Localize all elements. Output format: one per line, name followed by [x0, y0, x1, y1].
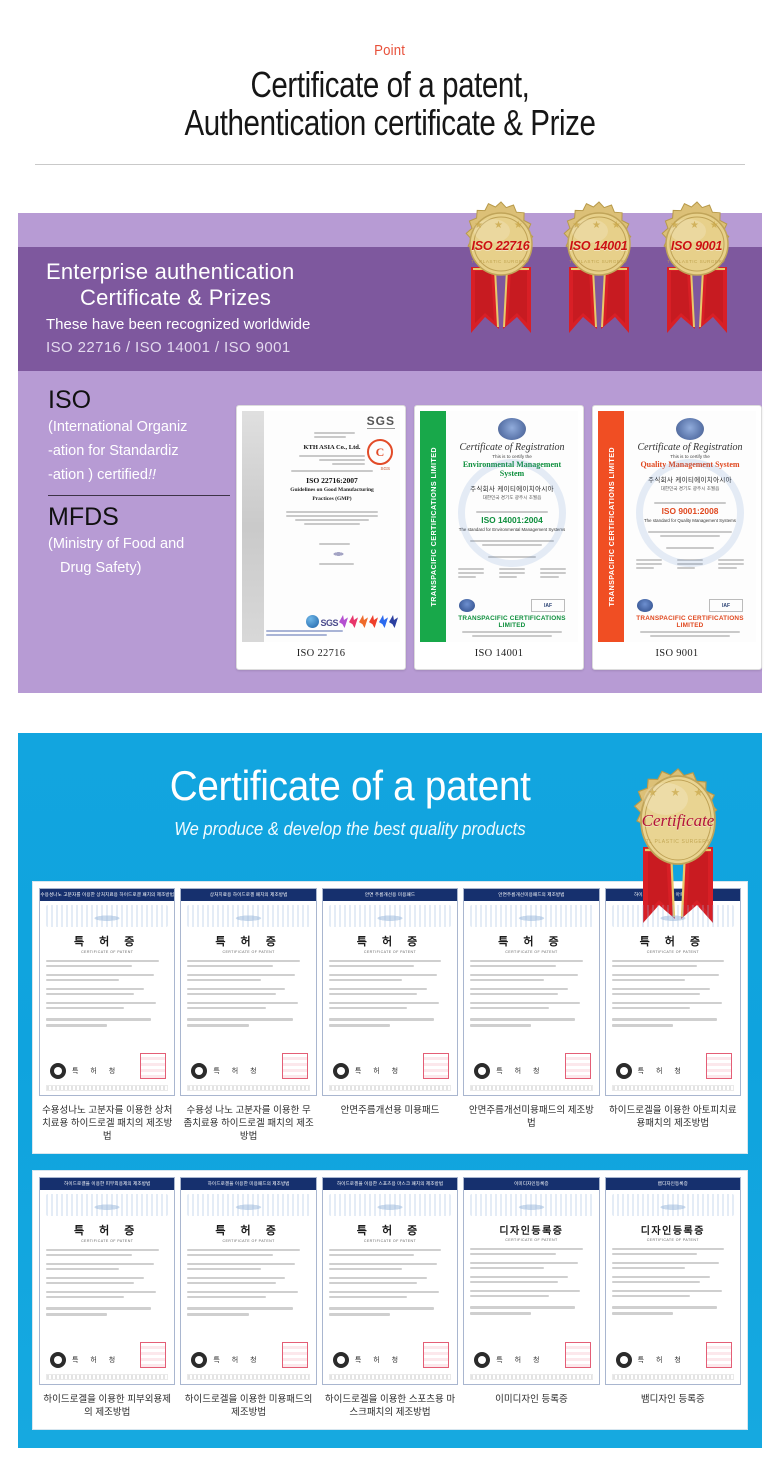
patent-footnote: [470, 1085, 592, 1091]
patent-document-body: 디자인등록증 CERTIFICATE OF PATENT 특 허 청: [606, 1190, 740, 1384]
patent-footnote: [187, 1085, 309, 1091]
patent-footnote: [329, 1374, 451, 1380]
medal-stars: ★ ★ ★: [653, 220, 740, 231]
patent-item[interactable]: 하이드로겔을 이용한 스포츠용 마스크 패치의 제조방법 특 허 증 CERTI…: [322, 1177, 458, 1423]
patent-office-name: 특 허 청: [72, 1066, 120, 1076]
certifier-sidebar: TRANSPACIFIC CERTIFICATIONS LIMITED: [420, 411, 446, 642]
header-divider: [35, 164, 745, 165]
certificate-caption: ISO 14001: [420, 642, 578, 664]
ornament-band: [187, 1194, 309, 1216]
crest-icon: [498, 418, 526, 440]
mfds-line-2: Drug Safety): [48, 556, 244, 580]
iso-mfds-info: ISO (International Organiz -ation for St…: [48, 385, 244, 580]
ornament-band: [329, 905, 451, 927]
enterprise-authentication-section: Enterprise authentication Certificate & …: [18, 213, 762, 693]
patent-document: 하이드로겔을 이용한 스포츠용 마스크 패치의 제조방법 특 허 증 CERTI…: [322, 1177, 458, 1385]
patent-document: 상처치료용 하이드로겔 패치의 제조방법 특 허 증 CERTIFICATE O…: [180, 888, 316, 1096]
iso-medal-14001: ★ ★ ★ ISO 14001 TL PLASTIC SURGERY: [555, 201, 642, 341]
patent-office-name: 특 허 청: [496, 1066, 544, 1076]
iso-line-3-emphasis: !!: [148, 467, 156, 483]
page-title-line1: Certificate of a patent,: [70, 66, 710, 104]
medal-stars: ★ ★ ★: [622, 786, 734, 799]
patent-document-body: 특 허 증 CERTIFICATE OF PATENT 특 허 청: [181, 1190, 315, 1384]
ornament-band: [612, 905, 734, 927]
patent-doc-lines: [612, 1248, 734, 1315]
sgs-footer-lines: [266, 630, 343, 636]
patent-document-header: 하이드로겔을 이용한 피부외용제의 제조방법: [40, 1178, 174, 1190]
patent-footnote: [187, 1374, 309, 1380]
certificate-content: Certificate of Registration This is to c…: [624, 411, 756, 642]
medal-subtext: TL PLASTIC SURGERY: [555, 259, 642, 264]
patent-item[interactable]: 상처치료용 하이드로겔 패치의 제조방법 특 허 증 CERTIFICATE O…: [180, 888, 316, 1147]
patent-document-body: 특 허 증 CERTIFICATE OF PATENT 특 허 청: [40, 1190, 174, 1384]
patent-doc-lines: [46, 1249, 168, 1316]
patent-caption: 이미디자인 등록증: [463, 1385, 599, 1419]
patent-doc-lines: [612, 960, 734, 1027]
patent-seal-icon: [706, 1053, 732, 1079]
crest-icon: [676, 418, 704, 440]
patent-caption: 하이드로겔을 이용한 피부외용제의 제조방법: [39, 1385, 175, 1423]
mfds-heading: MFDS: [48, 502, 244, 532]
patent-document-header: 하이드로겔을 이용한 미용패드의 제조방법: [181, 1178, 315, 1190]
gold-medal-icon: [458, 201, 544, 287]
patent-document-header: 이미디자인등록증: [464, 1178, 598, 1190]
patent-doc-title: 특 허 증: [46, 1222, 168, 1238]
bird-icon: [389, 615, 398, 628]
signature-block: [540, 566, 566, 580]
iso-medal-group: ★ ★ ★ ISO 22716 TL PLASTIC SURGERY ★ ★ ★…: [457, 201, 740, 341]
patent-document-body: 특 허 증 CERTIFICATE OF PATENT 특 허 청: [323, 901, 457, 1095]
patent-doc-lines: [470, 1248, 592, 1315]
patent-seal-icon: [423, 1342, 449, 1368]
ornament-band: [612, 1194, 734, 1216]
signature-block: [718, 557, 744, 571]
patent-grid: 수용성나노 고분자를 이용한 상처치료용 하이드로겔 패치의 제조방법 특 허 …: [39, 888, 741, 1147]
iaf-accreditation-icon: IAF: [709, 599, 743, 612]
patent-caption: 안면주름개선미용패드의 제조방법: [463, 1096, 599, 1134]
cert-body-lines: [286, 511, 378, 525]
patent-doc-title: 특 허 증: [187, 933, 309, 949]
ornament-band: [470, 1194, 592, 1216]
patent-row-1: 수용성나노 고분자를 이용한 상처치료용 하이드로겔 패치의 제조방법 특 허 …: [32, 881, 748, 1154]
patent-doc-title: 특 허 증: [470, 933, 592, 949]
certifier-crest-icon: [459, 599, 475, 612]
certifier-sidebar: TRANSPACIFIC CERTIFICATIONS LIMITED: [598, 411, 624, 642]
patent-seal-icon: [282, 1342, 308, 1368]
bird-icon: [349, 615, 358, 628]
ornament-band: [46, 1194, 168, 1216]
certifier-sidebar-text: TRANSPACIFIC CERTIFICATIONS LIMITED: [607, 447, 616, 606]
certificate-caption: ISO 22716: [242, 642, 400, 664]
certificate-card-iso-22716[interactable]: SGS C SGS KTH ASIA Co., Ltd. ISO 22716:2…: [236, 405, 406, 670]
patent-doc-title: 특 허 증: [329, 933, 451, 949]
patent-office-emblem-icon: [616, 1063, 632, 1079]
design-doc-title: 디자인등록증: [612, 1222, 734, 1237]
patent-item[interactable]: 하이드로겔을 이용한 아토피치료용 패치 특 허 증 CERTIFICATE O…: [605, 888, 741, 1147]
patent-doc-lines: [329, 960, 451, 1027]
cert-addr-lines: [299, 455, 366, 465]
patent-doc-title-en: CERTIFICATE OF PATENT: [46, 950, 168, 954]
medal-stars: ★ ★ ★: [555, 220, 642, 231]
patent-row-2: 하이드로겔을 이용한 피부외용제의 제조방법 특 허 증 CERTIFICATE…: [32, 1170, 748, 1430]
patent-office-emblem-icon: [50, 1352, 66, 1368]
patent-office-emblem-icon: [191, 1063, 207, 1079]
iso-line-3-text: -ation ) certified: [48, 467, 148, 483]
iso-line-3: -ation ) certified!!: [48, 463, 244, 487]
patent-doc-title-en: CERTIFICATE OF PATENT: [187, 950, 309, 954]
patent-section-title-text: Certificate of a patent: [170, 763, 531, 809]
certificate-image-iso-14001: TRANSPACIFIC CERTIFICATIONS LIMITED Cert…: [420, 411, 578, 642]
patent-doc-title: 특 허 증: [46, 933, 168, 949]
patent-seal-icon: [423, 1053, 449, 1079]
certificate-script-title: Certificate of Registration: [628, 442, 752, 453]
patent-doc-lines: [329, 1249, 451, 1316]
patent-document-body: 특 허 증 CERTIFICATE OF PATENT 특 허 청: [323, 1190, 457, 1384]
patent-office-name: 특 허 청: [496, 1355, 544, 1365]
certificate-image-iso-9001: TRANSPACIFIC CERTIFICATIONS LIMITED Cert…: [598, 411, 756, 642]
patent-office-emblem-icon: [191, 1352, 207, 1368]
patent-doc-title-en: CERTIFICATE OF PATENT: [46, 1239, 168, 1243]
sgs-standard: ISO 22716:2007: [268, 476, 396, 485]
patent-doc-title-en: CERTIFICATE OF PATENT: [329, 1239, 451, 1243]
mfds-line-1: (Ministry of Food and: [48, 532, 244, 556]
patent-office-emblem-icon: [333, 1063, 349, 1079]
certificate-watermark: [636, 459, 744, 567]
signature-block: [499, 566, 525, 580]
patent-seal-icon: [140, 1342, 166, 1368]
iso-heading: ISO: [48, 385, 244, 415]
patent-doc-title-en: CERTIFICATE OF PATENT: [329, 950, 451, 954]
patent-item[interactable]: 이미디자인등록증 디자인등록증 CERTIFICATE OF PATENT: [463, 1177, 599, 1423]
patent-document-header: 하이드로겔을 이용한 스포츠용 마스크 패치의 제조방법: [323, 1178, 457, 1190]
patent-caption: 하이드로겔을 이용한 아토피치료용패치의 제조방법: [605, 1096, 741, 1134]
patent-office-name: 특 허 청: [213, 1355, 261, 1365]
certificate-signature-row: [450, 566, 574, 580]
patent-doc-title: 특 허 증: [187, 1222, 309, 1238]
sgs-scope-line-2: Practices (GMP): [268, 496, 396, 503]
bird-logos: SGS: [266, 610, 398, 628]
patent-caption: 수용성 나노 고분자를 이용한 무좀치료용 하이드로겔 패치의 제조방법: [180, 1096, 316, 1147]
design-doc-title-en: CERTIFICATE OF PATENT: [470, 1238, 592, 1242]
patent-item[interactable]: 하이드로겔을 이용한 피부외용제의 제조방법 특 허 증 CERTIFICATE…: [39, 1177, 175, 1423]
footer-lines: [640, 631, 741, 637]
certifier-name: TRANSPACIFIC CERTIFICATIONS LIMITED: [627, 615, 753, 629]
sgs-scope-line-1: Guidelines on Good Manufacturing: [268, 487, 396, 494]
patent-seal-icon: [565, 1342, 591, 1368]
info-divider: [48, 495, 230, 496]
patent-item[interactable]: 하이드로겔을 이용한 미용패드의 제조방법 특 허 증 CERTIFICATE …: [180, 1177, 316, 1423]
patent-doc-lines: [46, 960, 168, 1027]
patent-footnote: [612, 1374, 734, 1380]
medal-stars: ★ ★ ★: [457, 220, 544, 231]
ornament-band: [329, 1194, 451, 1216]
patent-document-header: 뱀디자인등록증: [606, 1178, 740, 1190]
sgs-footer: SGS: [266, 610, 398, 638]
cert-signature-lines: [319, 543, 357, 565]
certificate-watermark: [458, 459, 566, 567]
patent-document-body: 특 허 증 CERTIFICATE OF PATENT 특 허 청: [40, 901, 174, 1095]
patent-caption: 수용성나노 고분자를 이용한 상처치료용 하이드로겔 패치의 제조방법: [39, 1096, 175, 1147]
patent-office-emblem-icon: [474, 1352, 490, 1368]
certificate-script-title: Certificate of Registration: [450, 442, 574, 453]
certifier-crest-icon: [637, 599, 653, 612]
patent-doc-lines: [187, 960, 309, 1027]
patent-office-name: 특 허 청: [72, 1355, 120, 1365]
patent-office-name: 특 허 청: [638, 1066, 686, 1076]
footer-lines: [462, 631, 563, 637]
bird-icon: [359, 615, 368, 628]
gold-medal-icon: [556, 201, 642, 287]
patent-grid: 하이드로겔을 이용한 피부외용제의 제조방법 특 허 증 CERTIFICATE…: [39, 1177, 741, 1423]
patent-doc-title-en: CERTIFICATE OF PATENT: [612, 950, 734, 954]
patent-item[interactable]: 뱀디자인등록증 디자인등록증 CERTIFICATE OF PATENT: [605, 1177, 741, 1423]
patent-doc-lines: [470, 960, 592, 1027]
medal-label: Certificate: [622, 811, 734, 831]
page-title: Certificate of a patent, Authentication …: [0, 66, 780, 142]
certificate-card-iso-9001[interactable]: TRANSPACIFIC CERTIFICATIONS LIMITED Cert…: [592, 405, 762, 670]
design-doc-title: 디자인등록증: [470, 1222, 592, 1237]
patent-footnote: [329, 1085, 451, 1091]
sgs-footer-wordmark: SGS: [320, 618, 338, 628]
certificate-content: SGS C SGS KTH ASIA Co., Ltd. ISO 22716:2…: [264, 411, 400, 642]
sgs-seal-icon: C: [367, 439, 393, 465]
patent-footnote: [46, 1374, 168, 1380]
patent-document-header: 안면 주름개선용 미용패드: [323, 889, 457, 901]
patent-doc-title: 특 허 증: [329, 1222, 451, 1238]
patent-document-body: 특 허 증 CERTIFICATE OF PATENT 특 허 청: [181, 901, 315, 1095]
medal-subtext: TL PLASTIC SURGERY: [457, 259, 544, 264]
iaf-accreditation-icon: IAF: [531, 599, 565, 612]
patent-section-header: Certificate of a patent We produce & dev…: [18, 733, 762, 881]
patent-section-subtitle-text: We produce & develop the best quality pr…: [174, 819, 525, 840]
certificate-content: Certificate of Registration This is to c…: [446, 411, 578, 642]
patent-doc-title-en: CERTIFICATE OF PATENT: [187, 1239, 309, 1243]
patent-caption: 하이드로겔을 이용한 미용패드의 제조방법: [180, 1385, 316, 1423]
gold-medal-icon: [654, 201, 740, 287]
patent-seal-icon: [565, 1053, 591, 1079]
patent-document-header: 수용성나노 고분자를 이용한 상처치료용 하이드로겔 패치의 제조방법: [40, 889, 174, 901]
iso-line-2: -ation for Standardiz: [48, 439, 244, 463]
ornament-band: [470, 905, 592, 927]
cert-lead-lines: [291, 470, 373, 472]
certificate-medal: ★ ★ ★ Certificate TL PLASTIC SURGERY: [622, 761, 734, 911]
patent-document-body: 특 허 증 CERTIFICATE OF PATENT 특 허 청: [606, 901, 740, 1095]
patent-office-emblem-icon: [333, 1352, 349, 1368]
patent-footnote: [46, 1085, 168, 1091]
ornament-band: [46, 905, 168, 927]
patent-document: 뱀디자인등록증 디자인등록증 CERTIFICATE OF PATENT: [605, 1177, 741, 1385]
patent-document: 하이드로겔을 이용한 아토피치료용 패치 특 허 증 CERTIFICATE O…: [605, 888, 741, 1096]
design-doc-title-en: CERTIFICATE OF PATENT: [612, 1238, 734, 1242]
patent-document-body: 디자인등록증 CERTIFICATE OF PATENT 특 허 청: [464, 1190, 598, 1384]
patent-office-emblem-icon: [616, 1352, 632, 1368]
accreditation-logos: IAF: [449, 599, 575, 612]
ornament-band: [187, 905, 309, 927]
iso-medal-9001: ★ ★ ★ ISO 9001 TL PLASTIC SURGERY: [653, 201, 740, 341]
sgs-seal-caption: SGS: [380, 466, 390, 471]
certificate-image-iso-22716: SGS C SGS KTH ASIA Co., Ltd. ISO 22716:2…: [242, 411, 400, 642]
patent-document-body: 특 허 증 CERTIFICATE OF PATENT 특 허 청: [464, 901, 598, 1095]
patent-document: 안면 주름개선용 미용패드 특 허 증 CERTIFICATE OF PATEN…: [322, 888, 458, 1096]
page-title-line2: Authentication certificate & Prize: [70, 104, 710, 142]
signature-block: [636, 557, 662, 571]
cert-meta-lines: [314, 432, 373, 438]
certificate-footer: IAF TRANSPACIFIC CERTIFICATIONS LIMITED: [449, 597, 575, 639]
patent-document: 안면주름개선미용패드의 제조방법 특 허 증 CERTIFICATE OF PA…: [463, 888, 599, 1096]
iso-certificate-gallery: SGS C SGS KTH ASIA Co., Ltd. ISO 22716:2…: [236, 405, 762, 670]
bird-icon: [339, 615, 348, 628]
patent-item[interactable]: 안면 주름개선용 미용패드 특 허 증 CERTIFICATE OF PATEN…: [322, 888, 458, 1147]
patent-office-emblem-icon: [474, 1063, 490, 1079]
patent-document-header: 상처치료용 하이드로겔 패치의 제조방법: [181, 889, 315, 901]
sgs-logo: SGS: [367, 414, 395, 429]
medal-subtext: TL PLASTIC SURGERY: [653, 259, 740, 264]
medal-subtext: TL PLASTIC SURGERY: [622, 839, 734, 845]
certificate-caption: ISO 9001: [598, 642, 756, 664]
patent-caption: 하이드로겔을 이용한 스포츠용 마스크패치의 제조방법: [322, 1385, 458, 1423]
page-header: Point Certificate of a patent, Authentic…: [0, 0, 780, 165]
point-label: Point: [375, 42, 406, 59]
signature-block: [458, 566, 484, 580]
patent-office-name: 특 허 청: [355, 1066, 403, 1076]
bird-icon: [379, 615, 388, 628]
patent-footnote: [612, 1085, 734, 1091]
patent-office-emblem-icon: [50, 1063, 66, 1079]
globe-icon: [306, 615, 319, 628]
patent-caption: 안면주름개선용 미용패드: [322, 1096, 458, 1130]
accreditation-logos: IAF: [627, 599, 753, 612]
patent-doc-title: 특 허 증: [612, 933, 734, 949]
patent-office-name: 특 허 청: [355, 1355, 403, 1365]
patent-document: 이미디자인등록증 디자인등록증 CERTIFICATE OF PATENT: [463, 1177, 599, 1385]
patent-document: 수용성나노 고분자를 이용한 상처치료용 하이드로겔 패치의 제조방법 특 허 …: [39, 888, 175, 1096]
iso-line-1: (International Organiz: [48, 415, 244, 439]
bird-icon: [369, 615, 378, 628]
patent-document: 하이드로겔을 이용한 미용패드의 제조방법 특 허 증 CERTIFICATE …: [180, 1177, 316, 1385]
patent-document-header: 안면주름개선미용패드의 제조방법: [464, 889, 598, 901]
patent-seal-icon: [706, 1342, 732, 1368]
iso-medal-22716: ★ ★ ★ ISO 22716 TL PLASTIC SURGERY: [457, 201, 544, 341]
patent-doc-lines: [187, 1249, 309, 1316]
patent-seal-icon: [282, 1053, 308, 1079]
patent-item[interactable]: 수용성나노 고분자를 이용한 상처치료용 하이드로겔 패치의 제조방법 특 허 …: [39, 888, 175, 1147]
certificate-footer: IAF TRANSPACIFIC CERTIFICATIONS LIMITED: [627, 597, 753, 639]
patent-doc-title-en: CERTIFICATE OF PATENT: [470, 950, 592, 954]
certificate-card-iso-14001[interactable]: TRANSPACIFIC CERTIFICATIONS LIMITED Cert…: [414, 405, 584, 670]
certifier-name: TRANSPACIFIC CERTIFICATIONS LIMITED: [449, 615, 575, 629]
patent-footnote: [470, 1374, 592, 1380]
patent-caption: 뱀디자인 등록증: [605, 1385, 741, 1419]
patent-office-name: 특 허 청: [213, 1066, 261, 1076]
certificate-watermark-strip: [242, 411, 264, 642]
patent-certificate-section: Certificate of a patent We produce & dev…: [18, 733, 762, 1448]
patent-item[interactable]: 안면주름개선미용패드의 제조방법 특 허 증 CERTIFICATE OF PA…: [463, 888, 599, 1147]
patent-document: 하이드로겔을 이용한 피부외용제의 제조방법 특 허 증 CERTIFICATE…: [39, 1177, 175, 1385]
certifier-sidebar-text: TRANSPACIFIC CERTIFICATIONS LIMITED: [429, 447, 438, 606]
patent-office-name: 특 허 청: [638, 1355, 686, 1365]
patent-seal-icon: [140, 1053, 166, 1079]
